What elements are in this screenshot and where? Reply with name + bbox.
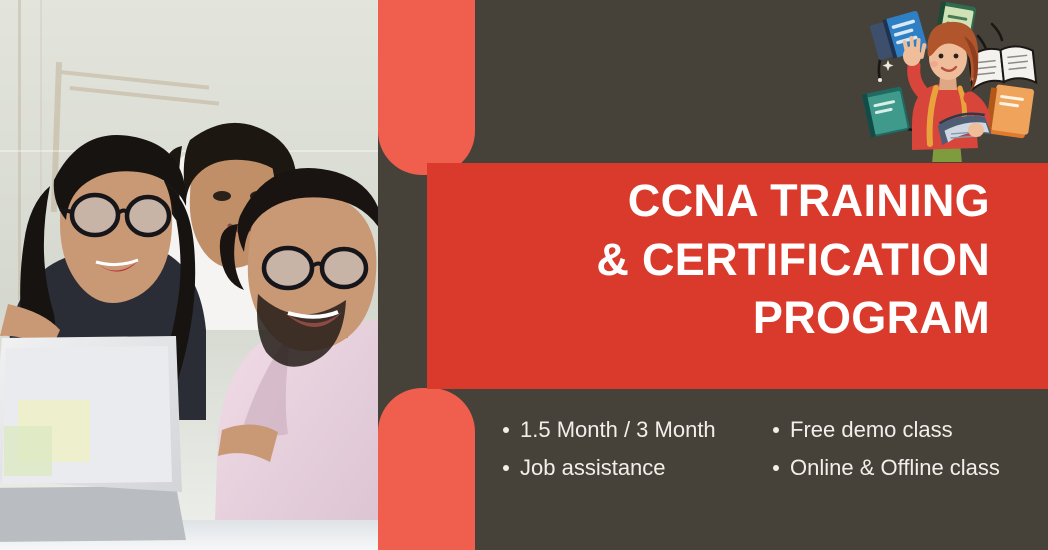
list-item: Online & Offline class	[773, 456, 1033, 480]
page-title-line-2: & CERTIFICATION	[440, 231, 990, 290]
page-title-line-3: PROGRAM	[440, 289, 990, 348]
coral-tab-bottom	[378, 388, 475, 550]
list-item: Job assistance	[503, 456, 751, 480]
students-at-laptop-photo	[0, 0, 378, 550]
bullet-dot-icon	[773, 427, 779, 433]
ccna-course-banner: CCNA TRAINING & CERTIFICATION PROGRAM 1.…	[0, 0, 1048, 550]
feature-column-2: Free demo class Online & Offline class	[773, 418, 1033, 480]
feature-label: Free demo class	[790, 418, 953, 442]
coral-tab-top	[378, 0, 475, 175]
page-title-line-1: CCNA TRAINING	[440, 172, 990, 231]
bullet-dot-icon	[503, 465, 509, 471]
feature-label: Online & Offline class	[790, 456, 1000, 480]
page-title: CCNA TRAINING & CERTIFICATION PROGRAM	[440, 172, 990, 348]
feature-list: 1.5 Month / 3 Month Job assistance Free …	[503, 418, 1033, 480]
bullet-dot-icon	[503, 427, 509, 433]
feature-column-1: 1.5 Month / 3 Month Job assistance	[503, 418, 751, 480]
student-with-books-illustration	[852, 2, 1042, 162]
feature-label: Job assistance	[520, 456, 666, 480]
feature-label: 1.5 Month / 3 Month	[520, 418, 716, 442]
list-item: 1.5 Month / 3 Month	[503, 418, 751, 442]
bullet-dot-icon	[773, 465, 779, 471]
list-item: Free demo class	[773, 418, 1033, 442]
